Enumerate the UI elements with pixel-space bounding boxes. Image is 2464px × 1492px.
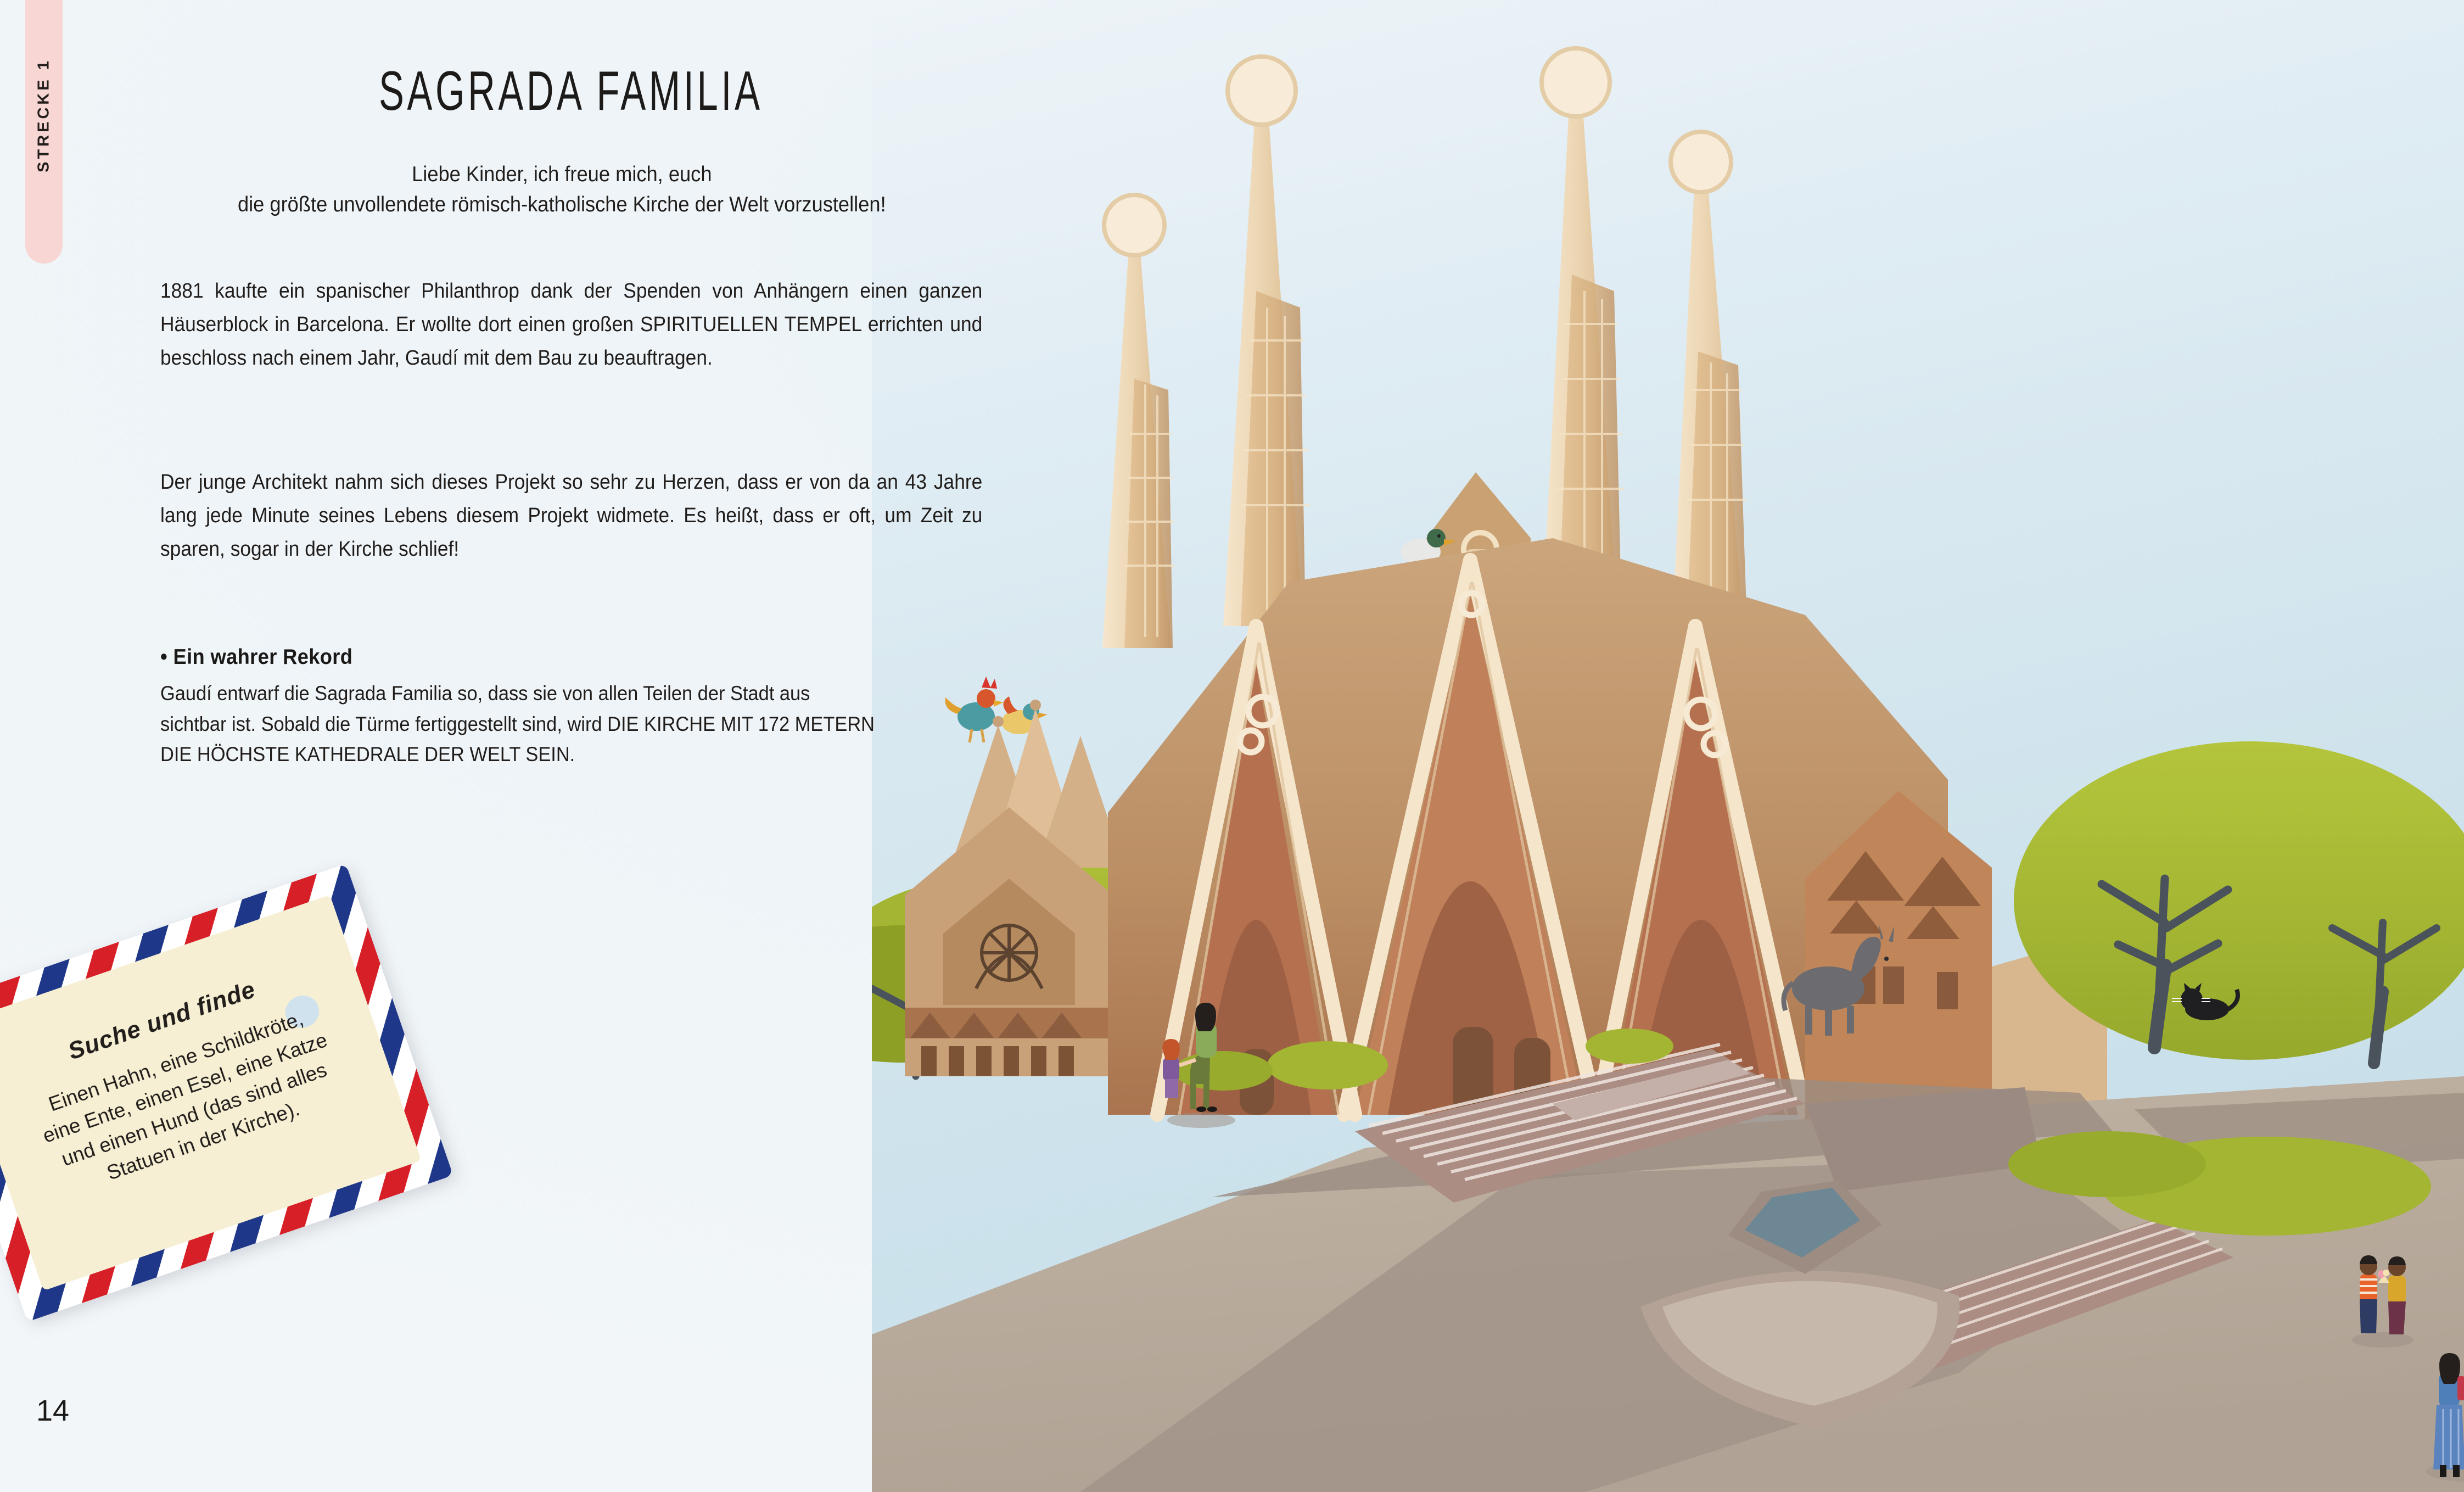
intro-paragraph: Liebe Kinder, ich freue mich, euch die g… [148,159,976,220]
strecke-tab[interactable]: STRECKE 1 [25,0,63,264]
record-body: Gaudí entwarf die Sagrada Familia so, da… [160,678,875,770]
page-title: SAGRADA FAMILIA [379,59,763,124]
book-page-spread: SAGRADA FAMILIA Liebe Kinder, ich freue … [0,0,2464,1492]
page-number: 14 [36,1394,69,1428]
strecke-tab-label: STRECKE 1 [35,58,53,172]
envelope-body: Einen Hahn, eine Schildkröte, eine Ente,… [20,996,360,1206]
intro-line-1: Liebe Kinder, ich freue mich, euch [412,163,712,186]
record-heading: • Ein wahrer Rekord [160,645,875,669]
intro-line-2: die größte unvollendete römisch-katholis… [148,189,976,220]
body-paragraph-2: Der junge Architekt nahm sich dieses Pro… [160,466,982,566]
sagrada-familia-illustration [872,0,2464,1492]
record-callout: • Ein wahrer Rekord Gaudí entwarf die Sa… [160,645,875,770]
body-paragraph-1: 1881 kaufte ein spanischer Philanthrop d… [160,275,982,375]
